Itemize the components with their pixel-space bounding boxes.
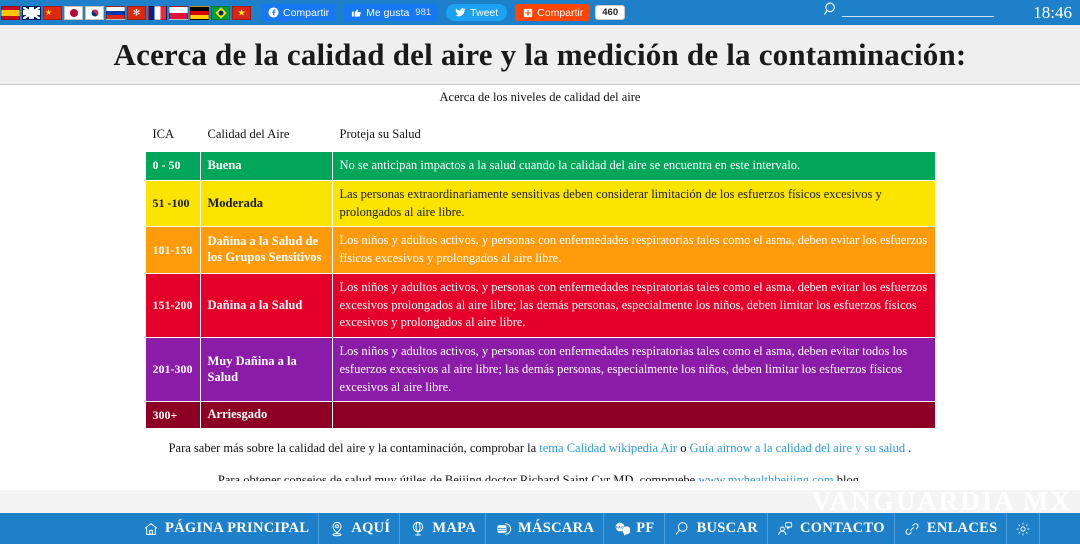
- aqi-advice: [332, 402, 935, 429]
- nav-label: AQUÍ: [351, 520, 390, 537]
- main-content: Acerca de los niveles de calidad del air…: [0, 86, 1080, 488]
- table-row: 101-150 Dañina a la Salud de los Grupos …: [145, 227, 935, 274]
- table-caption: Acerca de los niveles de calidad del air…: [0, 86, 1080, 105]
- flag-france[interactable]: [148, 6, 167, 20]
- svg-text:FAQ: FAQ: [616, 525, 624, 529]
- table-row: 151-200 Dañina a la Salud Los niños y ad…: [145, 273, 935, 337]
- thumbs-up-icon: [351, 7, 362, 18]
- nav-item-contacto[interactable]: CONTACTO: [768, 513, 895, 544]
- clock: 18:46: [1033, 0, 1072, 25]
- twitter-bird-icon: [455, 7, 466, 18]
- top-bar: Compartir Me gusta 981 Tweet: [0, 0, 1080, 25]
- content-gap: [0, 481, 1080, 490]
- top-search[interactable]: [823, 1, 994, 18]
- airnow-guide-link[interactable]: Guía airnow a la calidad del aire y su s…: [690, 441, 906, 455]
- search-icon[interactable]: [823, 1, 840, 18]
- watermark-band: VANGUARDIA MX: [0, 490, 1080, 514]
- nav-label: CONTACTO: [800, 520, 885, 537]
- watermark: VANGUARDIA MX: [812, 490, 1072, 514]
- flag-united-kingdom[interactable]: [22, 6, 41, 20]
- flag-russia[interactable]: [106, 6, 125, 20]
- aqi-quality: Dañina a la Salud: [200, 273, 332, 337]
- aqi-range: 0 - 50: [145, 152, 200, 181]
- page-root: Compartir Me gusta 981 Tweet: [0, 0, 1080, 544]
- nav-item-pagina-principal[interactable]: PÁGINA PRINCIPAL: [133, 513, 319, 544]
- home-icon: [142, 520, 159, 537]
- aqi-range: 151-200: [145, 273, 200, 337]
- aqi-range: 300+: [145, 402, 200, 429]
- globe-icon: [409, 520, 426, 537]
- nav-item-mascara[interactable]: MÁSCARA: [486, 513, 604, 544]
- nav-item-mapa[interactable]: MAPA: [400, 513, 486, 544]
- social-share-group: Compartir Me gusta 981 Tweet: [261, 4, 625, 21]
- nav-item-aqui[interactable]: AQUÍ: [319, 513, 400, 544]
- flag-hong-kong[interactable]: [127, 6, 146, 20]
- column-header-ica: ICA: [145, 119, 200, 152]
- column-header-health: Proteja su Salud: [332, 119, 935, 152]
- reddit-share-group: Compartir 460: [515, 4, 625, 21]
- table-row: 51 -100 Moderada Las personas extraordin…: [145, 180, 935, 227]
- flag-spain[interactable]: [1, 6, 20, 20]
- facebook-like-label: Me gusta: [366, 7, 409, 19]
- table-row: 201-300 Muy Dañina a la Salud Los niños …: [145, 338, 935, 402]
- twitter-tweet-button[interactable]: Tweet: [446, 4, 507, 21]
- aqi-quality: Dañina a la Salud de los Grupos Sensitiv…: [200, 227, 332, 274]
- nav-label: PF: [636, 520, 654, 537]
- aqi-advice: Las personas extraordinariamente sensiti…: [332, 180, 935, 227]
- nav-label: PÁGINA PRINCIPAL: [165, 520, 309, 537]
- flag-poland[interactable]: [169, 6, 188, 20]
- facebook-like-button[interactable]: Me gusta 981: [344, 4, 438, 21]
- contact-person-icon: [777, 520, 794, 537]
- wikipedia-air-quality-link[interactable]: tema Calidad wikipedia Air: [539, 441, 677, 455]
- nav-label: BUSCAR: [697, 520, 758, 537]
- reddit-icon: [522, 7, 533, 18]
- face-mask-icon: [495, 520, 512, 537]
- table-header-row: ICA Calidad del Aire Proteja su Salud: [145, 119, 935, 152]
- table-row: 0 - 50 Buena No se anticipan impactos a …: [145, 152, 935, 181]
- magnifier-icon: [674, 520, 691, 537]
- reddit-label: Compartir: [537, 7, 583, 19]
- header-band: Acerca de la calidad del aire y la medic…: [0, 25, 1080, 85]
- aqi-range: 101-150: [145, 227, 200, 274]
- facebook-icon: [268, 7, 279, 18]
- aqi-advice: No se anticipan impactos a la salud cuan…: [332, 152, 935, 181]
- flag-vietnam[interactable]: [232, 6, 251, 20]
- flag-germany[interactable]: [190, 6, 209, 20]
- nav-label: MAPA: [432, 520, 476, 537]
- flag-brazil[interactable]: [211, 6, 230, 20]
- flag-south-korea[interactable]: [85, 6, 104, 20]
- nav-item-buscar[interactable]: BUSCAR: [665, 513, 768, 544]
- search-input[interactable]: [842, 2, 994, 17]
- table-row: 300+ Arriesgado: [145, 402, 935, 429]
- aqi-quality: Moderada: [200, 180, 332, 227]
- aqi-range: 51 -100: [145, 180, 200, 227]
- flag-japan[interactable]: [64, 6, 83, 20]
- aqi-levels-table: ICA Calidad del Aire Proteja su Salud 0 …: [145, 118, 936, 429]
- nav-item-pf[interactable]: FAQ PF: [604, 513, 664, 544]
- nav-item-enlaces[interactable]: ENLACES: [895, 513, 1008, 544]
- aqi-range: 201-300: [145, 338, 200, 402]
- note1-prefix: Para saber más sobre la calidad del aire…: [169, 441, 540, 455]
- facebook-share-button[interactable]: Compartir: [261, 4, 336, 21]
- page-title: Acerca de la calidad del aire y la medic…: [114, 37, 967, 73]
- nav-spacer-left: [0, 513, 133, 544]
- nav-label: MÁSCARA: [518, 520, 594, 537]
- facebook-like-count: 981: [415, 7, 431, 18]
- nav-label: ENLACES: [927, 520, 998, 537]
- aqi-advice: Los niños y adultos activos, y personas …: [332, 273, 935, 337]
- aqi-advice: Los niños y adultos activos, y personas …: [332, 338, 935, 402]
- reddit-count: 460: [595, 5, 625, 20]
- nav-spacer-right: [1040, 513, 1080, 544]
- gear-icon: [1015, 521, 1031, 537]
- note1-mid: o: [677, 441, 690, 455]
- reddit-share-button[interactable]: Compartir: [515, 4, 590, 21]
- location-pin-icon: [328, 520, 345, 537]
- facebook-share-label: Compartir: [283, 7, 329, 19]
- note1-suffix: .: [905, 441, 911, 455]
- twitter-label: Tweet: [470, 7, 498, 19]
- note-line-1: Para saber más sobre la calidad del aire…: [0, 441, 1080, 456]
- aqi-advice: Los niños y adultos activos, y personas …: [332, 227, 935, 274]
- language-flag-list: [0, 2, 253, 23]
- aqi-quality: Arriesgado: [200, 402, 332, 429]
- aqi-quality: Buena: [200, 152, 332, 181]
- link-chain-icon: [904, 520, 921, 537]
- flag-china[interactable]: [43, 6, 62, 20]
- bottom-nav: PÁGINA PRINCIPAL AQUÍ MAPA MÁSCARA FAQ P…: [0, 513, 1080, 544]
- faq-chat-icon: FAQ: [613, 520, 630, 537]
- aqi-quality: Muy Dañina a la Salud: [200, 338, 332, 402]
- settings-button[interactable]: [1007, 513, 1040, 544]
- column-header-quality: Calidad del Aire: [200, 119, 332, 152]
